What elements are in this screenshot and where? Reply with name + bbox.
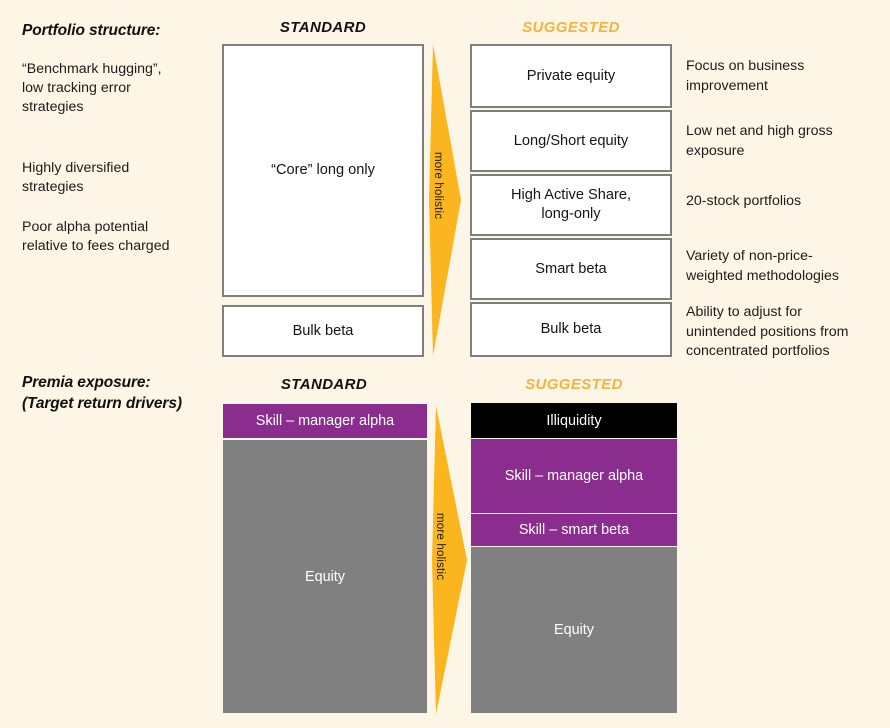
- portfolio-suggested-box-smart-beta[interactable]: Smart beta: [470, 238, 672, 300]
- portfolio-note-benchmark-hugging: “Benchmark hugging”, low tracking error …: [22, 60, 217, 117]
- more-holistic-label-top: more holistic: [432, 152, 444, 219]
- portfolio-standard-box-core-long-only[interactable]: “Core” long only: [222, 44, 424, 297]
- premia-exposure-heading: Premia exposure: (Target return drivers): [22, 372, 182, 414]
- premia-standard-column-header: STANDARD: [223, 376, 425, 394]
- portfolio-structure-heading: Portfolio structure:: [22, 20, 160, 41]
- portfolio-suggested-box-long-short-equity[interactable]: Long/Short equity: [470, 110, 672, 172]
- portfolio-sidenote-focus-on-business: Focus on business improvement: [686, 57, 876, 96]
- premia-suggested-bar-skill-manager-alpha[interactable]: Skill – manager alpha: [471, 439, 677, 513]
- portfolio-suggested-box-bulk-beta[interactable]: Bulk beta: [470, 302, 672, 357]
- portfolio-sidenote-variety-methodologies: Variety of non-price- weighted methodolo…: [686, 247, 882, 286]
- premia-suggested-bar-equity[interactable]: Equity: [471, 547, 677, 713]
- premia-suggested-bar-skill-smart-beta[interactable]: Skill – smart beta: [471, 514, 677, 546]
- portfolio-sidenote-low-net-high-gross: Low net and high gross exposure: [686, 122, 881, 161]
- portfolio-note-poor-alpha: Poor alpha potential relative to fees ch…: [22, 218, 222, 256]
- portfolio-sidenote-ability-to-adjust: Ability to adjust for unintended positio…: [686, 303, 886, 362]
- portfolio-suggested-box-high-active-share[interactable]: High Active Share, long-only: [470, 174, 672, 236]
- diagram-canvas: Portfolio structure: STANDARD SUGGESTED …: [0, 0, 890, 728]
- portfolio-suggested-box-private-equity[interactable]: Private equity: [470, 44, 672, 108]
- portfolio-suggested-column-header: SUGGESTED: [470, 19, 672, 37]
- premia-suggested-bar-illiquidity[interactable]: Illiquidity: [471, 403, 677, 438]
- premia-suggested-column-header: SUGGESTED: [471, 376, 677, 394]
- premia-standard-bar-skill-manager-alpha[interactable]: Skill – manager alpha: [223, 404, 427, 438]
- portfolio-standard-column-header: STANDARD: [223, 19, 423, 37]
- portfolio-note-highly-diversified: Highly diversified strategies: [22, 159, 217, 197]
- portfolio-sidenote-20-stock-portfolios: 20-stock portfolios: [686, 192, 876, 212]
- premia-standard-bar-equity[interactable]: Equity: [223, 440, 427, 713]
- portfolio-standard-box-bulk-beta[interactable]: Bulk beta: [222, 305, 424, 357]
- more-holistic-label-bottom: more holistic: [434, 513, 446, 580]
